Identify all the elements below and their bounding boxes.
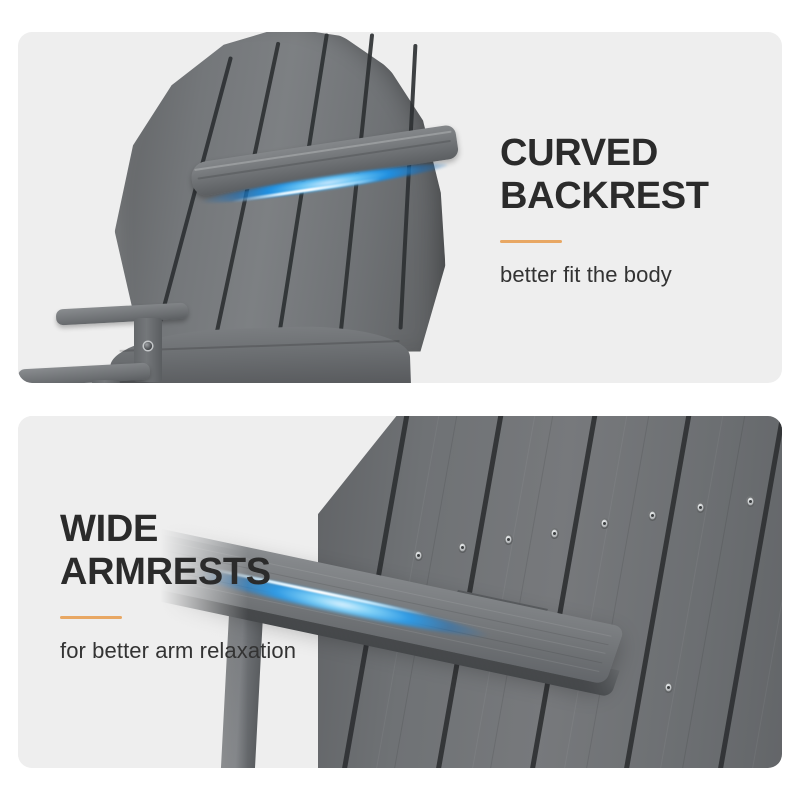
subline-curved-backrest: better fit the body (500, 262, 768, 288)
armrest-lower (18, 363, 150, 383)
mounting-screw (696, 502, 705, 513)
mounting-screw (648, 510, 657, 521)
accent-divider (60, 616, 122, 619)
feature-panel-curved-backrest: CURVED BACKREST better fit the body (18, 32, 782, 383)
mounting-screw (414, 550, 423, 561)
accent-divider (500, 240, 562, 243)
armrest-lower-post (92, 380, 120, 383)
mounting-screw (746, 496, 755, 507)
text-block-wide-armrests: WIDE ARMRESTS for better arm relaxation (60, 508, 360, 664)
headline-wide-armrests: WIDE ARMRESTS (60, 508, 360, 593)
subline-wide-armrests: for better arm relaxation (60, 638, 360, 664)
mounting-screw (664, 682, 673, 693)
headline-curved-backrest: CURVED BACKREST (500, 132, 768, 217)
text-block-curved-backrest: CURVED BACKREST better fit the body (500, 132, 768, 288)
feature-panel-wide-armrests: WIDE ARMRESTS for better arm relaxation (18, 416, 782, 768)
armrest-bolt (144, 342, 152, 350)
mounting-screw (458, 542, 467, 553)
mounting-screw (600, 518, 609, 529)
mounting-screw (504, 534, 513, 545)
mounting-screw (550, 528, 559, 539)
feature-graphic-stage: CURVED BACKREST better fit the body (0, 0, 800, 800)
